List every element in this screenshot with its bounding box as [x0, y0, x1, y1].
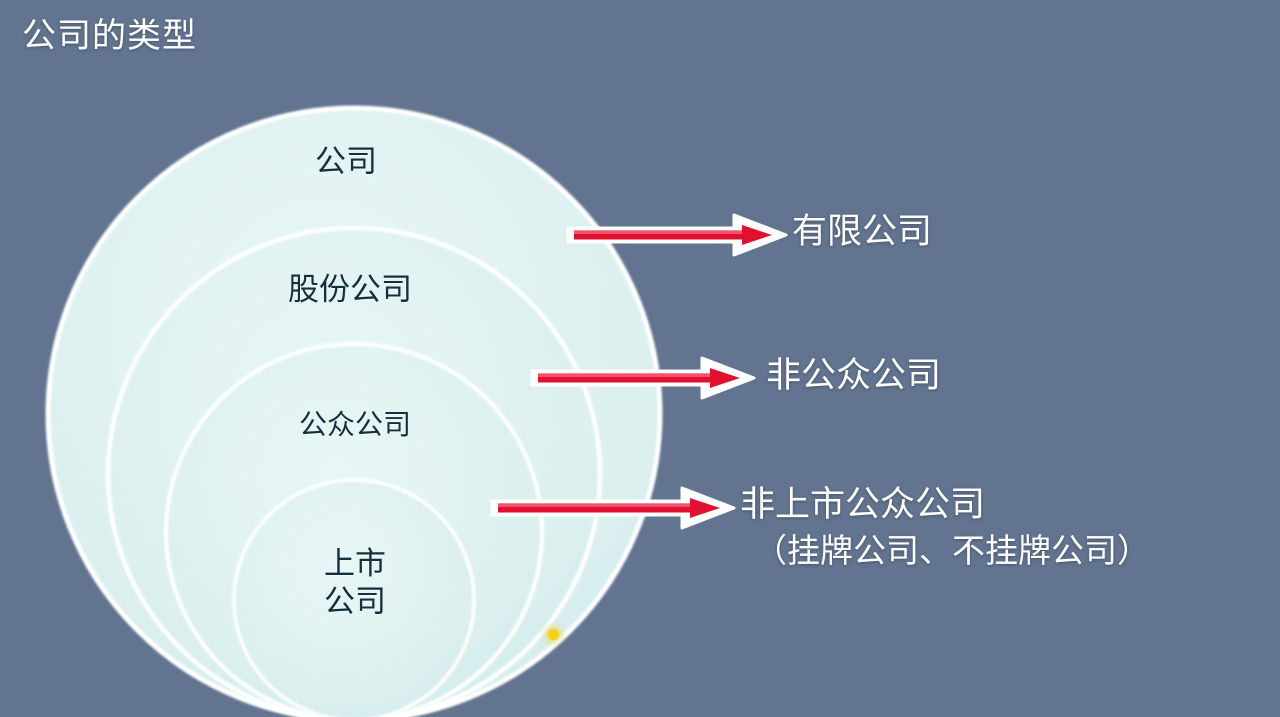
- callout-label-1: 有限公司: [792, 209, 932, 255]
- ring-label-listed: 上市 公司: [230, 545, 480, 621]
- slide-canvas: 公司的类型 公司 股份公司 公众公: [0, 0, 1280, 717]
- ring-label-listed-line1: 上市: [324, 546, 386, 581]
- ring-label-public: 公众公司: [215, 406, 495, 444]
- callout-label-2-text: 非公众公司: [766, 356, 941, 395]
- red-arrow-right-icon-1: [566, 212, 788, 258]
- callout-label-2: 非公众公司: [766, 353, 941, 399]
- callout-label-3: 非上市公众公司 （挂牌公司、不挂牌公司）: [740, 482, 1150, 574]
- red-arrow-right-icon-2: [530, 355, 756, 401]
- callout-label-3-text: 非上市公众公司: [740, 485, 985, 524]
- callout-label-1-text: 有限公司: [792, 212, 932, 251]
- laser-pointer-dot: [548, 629, 559, 640]
- ring-label-listed-line2: 公司: [230, 583, 480, 621]
- ring-label-joint-stock: 股份公司: [200, 271, 500, 309]
- callout-label-3-subtext: （挂牌公司、不挂牌公司）: [740, 528, 1150, 574]
- red-arrow-right-icon-3: [490, 485, 736, 531]
- ring-label-company: 公司: [216, 143, 476, 181]
